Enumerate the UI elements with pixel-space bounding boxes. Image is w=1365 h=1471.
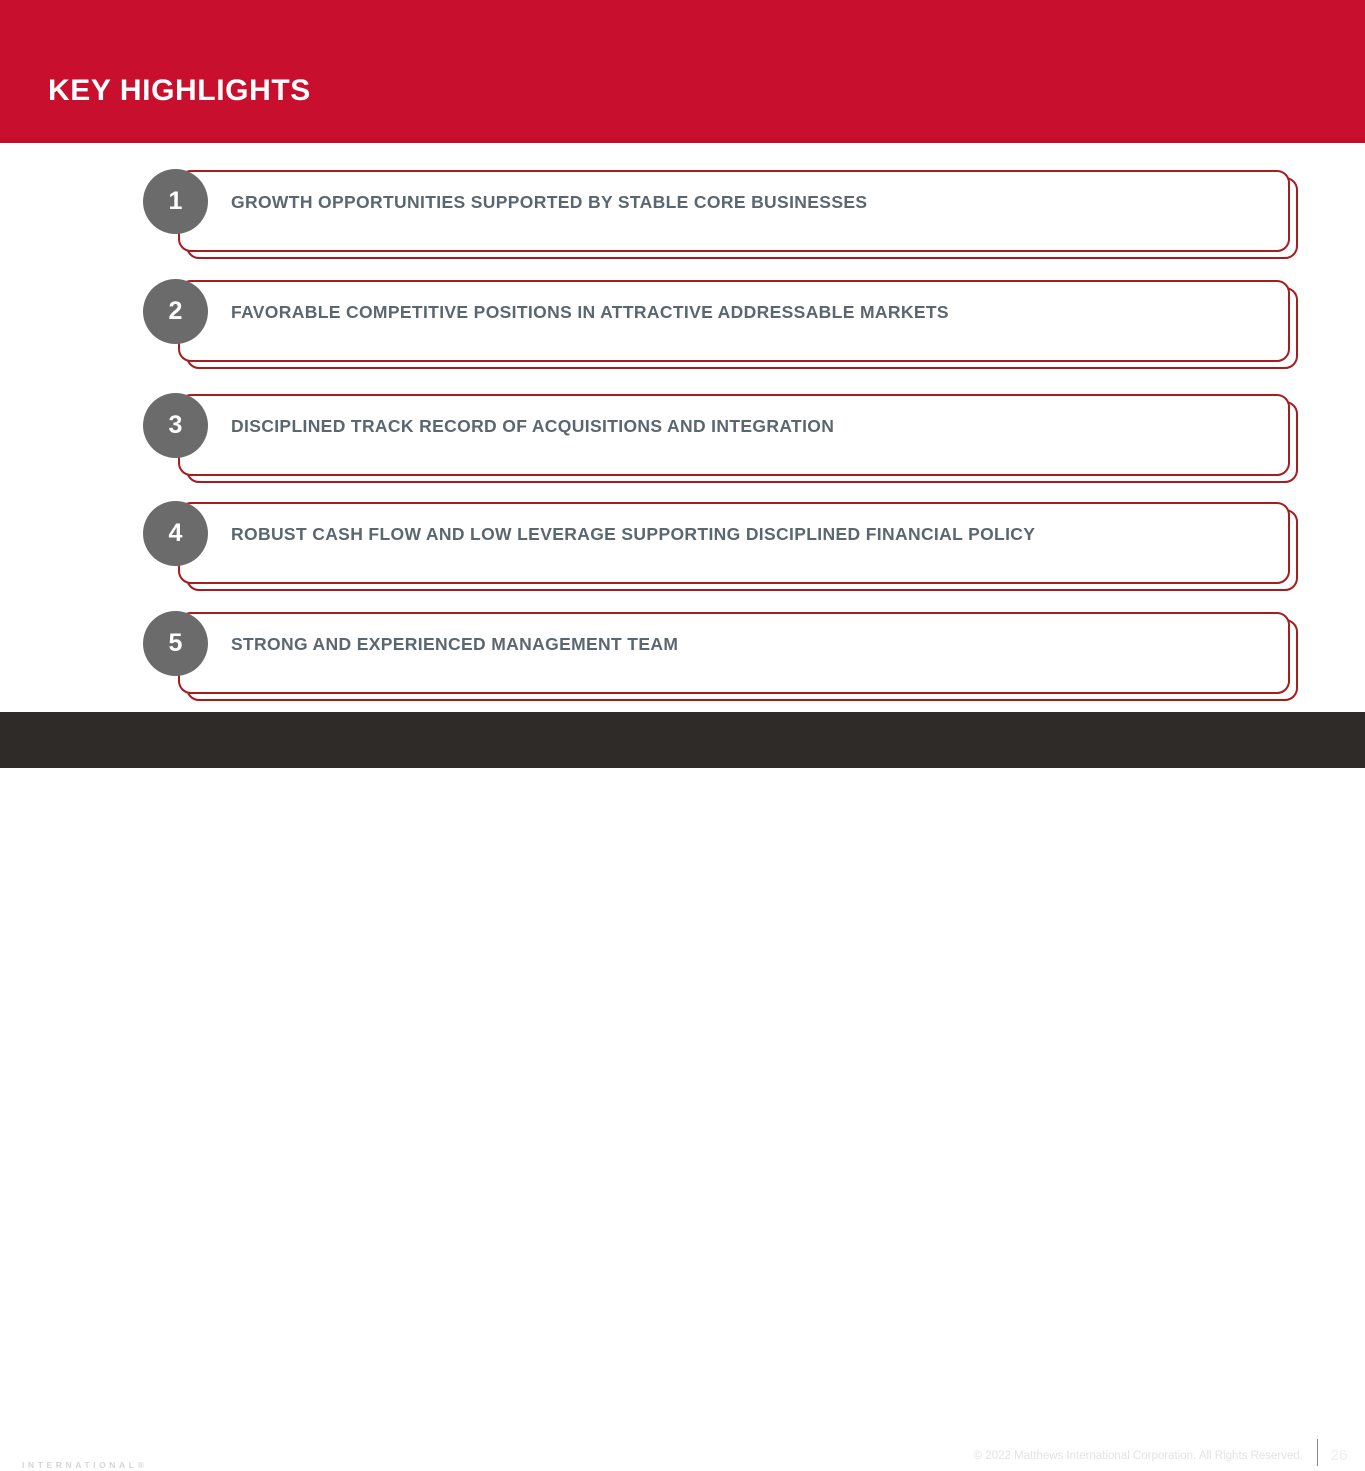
slide-footer: Matthews INTERNATIONAL® © 2022 Matthews … [0, 712, 1365, 768]
highlight-label: STRONG AND EXPERIENCED MANAGEMENT TEAM [231, 632, 678, 656]
logo-subtitle: INTERNATIONAL® [22, 1459, 147, 1471]
page-number: 26 [1327, 1446, 1351, 1465]
highlight-label: ROBUST CASH FLOW AND LOW LEVERAGE SUPPOR… [231, 522, 1035, 546]
highlight-row[interactable]: 3 DISCIPLINED TRACK RECORD OF ACQUISITIO… [0, 367, 1365, 463]
highlight-row[interactable]: 1 GROWTH OPPORTUNITIES SUPPORTED BY STAB… [0, 143, 1365, 239]
highlight-number-badge: 1 [143, 169, 208, 234]
highlight-label: DISCIPLINED TRACK RECORD OF ACQUISITIONS… [231, 414, 834, 438]
logo-wordmark: Matthews [20, 1434, 147, 1458]
highlight-label: GROWTH OPPORTUNITIES SUPPORTED BY STABLE… [231, 190, 867, 214]
slide: KEY HIGHLIGHTS 1 GROWTH OPPORTUNITIES SU… [0, 0, 1365, 768]
highlight-number-badge: 5 [143, 611, 208, 676]
highlight-row[interactable]: 5 STRONG AND EXPERIENCED MANAGEMENT TEAM [0, 585, 1365, 681]
footer-divider [1317, 1439, 1318, 1466]
highlight-number-badge: 2 [143, 279, 208, 344]
highlight-number-badge: 4 [143, 501, 208, 566]
highlight-row[interactable]: 4 ROBUST CASH FLOW AND LOW LEVERAGE SUPP… [0, 475, 1365, 571]
page-title: KEY HIGHLIGHTS [48, 72, 311, 110]
copyright-text: © 2022 Matthews International Corporatio… [974, 1449, 1303, 1463]
highlight-number-badge: 3 [143, 393, 208, 458]
highlight-label: FAVORABLE COMPETITIVE POSITIONS IN ATTRA… [231, 300, 949, 324]
highlight-row[interactable]: 2 FAVORABLE COMPETITIVE POSITIONS IN ATT… [0, 253, 1365, 349]
slide-header: KEY HIGHLIGHTS [0, 0, 1365, 143]
highlights-list: 1 GROWTH OPPORTUNITIES SUPPORTED BY STAB… [0, 143, 1365, 712]
matthews-logo: Matthews INTERNATIONAL® [20, 1434, 147, 1471]
